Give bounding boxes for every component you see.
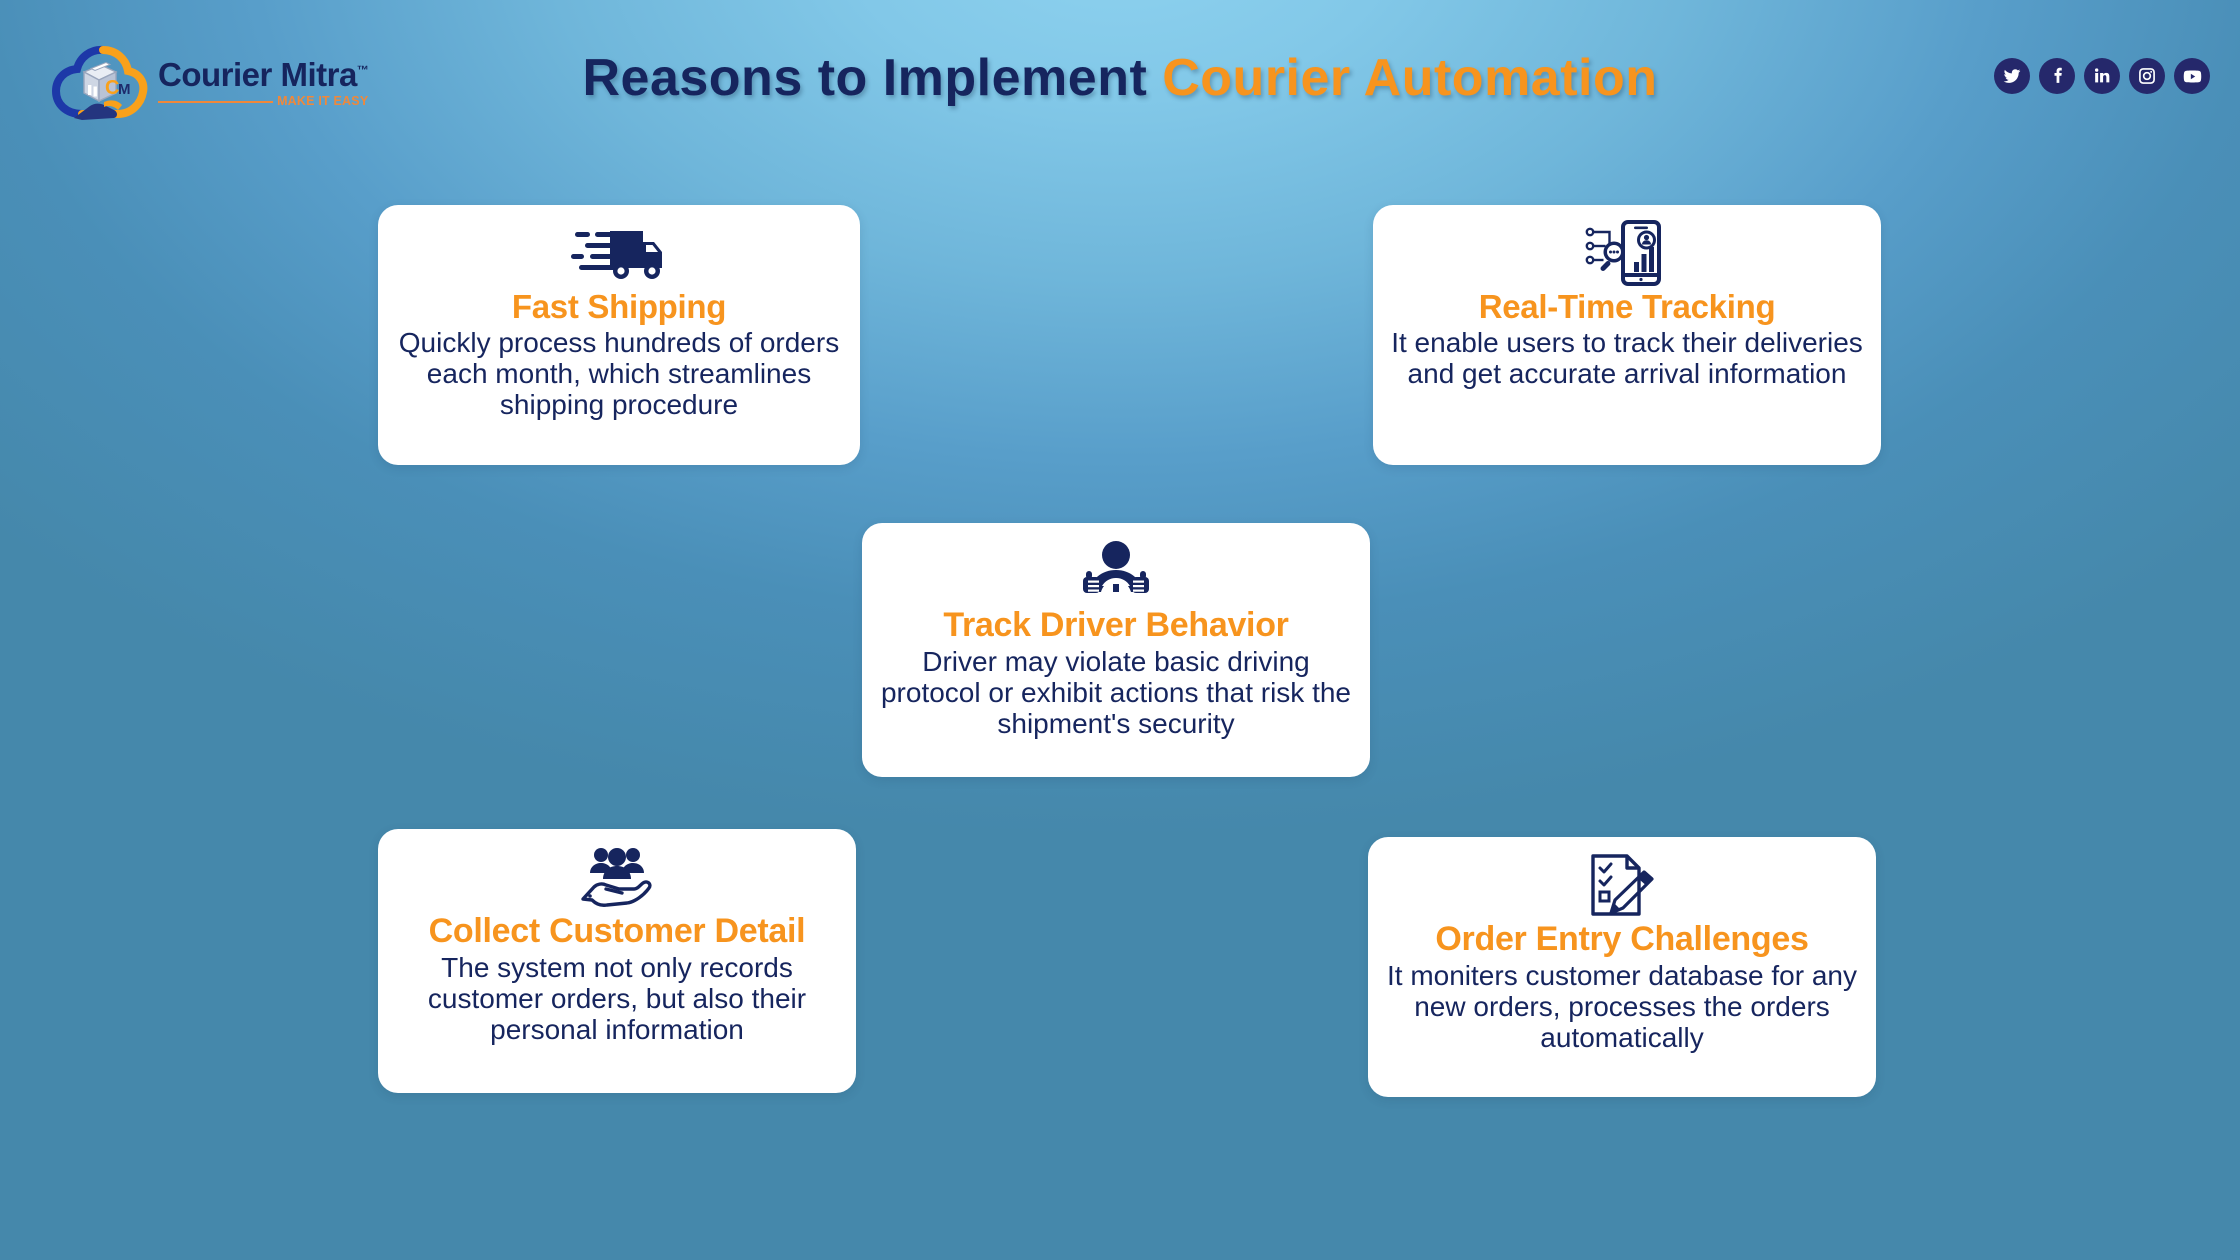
card-body: It enable users to track their deliverie… [1391, 327, 1863, 390]
card-title: Track Driver Behavior [880, 607, 1352, 644]
hand-holding-people-icon [396, 845, 838, 909]
card-fast-shipping[interactable]: Fast Shipping Quickly process hundreds o… [378, 205, 860, 465]
driver-steering-wheel-icon [880, 539, 1352, 603]
social-link-instagram[interactable] [2129, 58, 2165, 94]
twitter-icon [2002, 66, 2022, 86]
card-title: Real-Time Tracking [1391, 289, 1863, 325]
card-order-entry-challenges[interactable]: Order Entry Challenges It moniters custo… [1368, 837, 1876, 1097]
mobile-tracking-analytics-icon [1391, 221, 1863, 285]
card-track-driver-behavior[interactable]: Track Driver Behavior Driver may violate… [862, 523, 1370, 777]
youtube-icon [2182, 66, 2203, 87]
card-title: Collect Customer Detail [396, 913, 838, 950]
social-link-facebook[interactable] [2039, 58, 2075, 94]
card-body: It moniters customer database for any ne… [1386, 960, 1858, 1054]
card-real-time-tracking[interactable]: Real-Time Tracking It enable users to tr… [1373, 205, 1881, 465]
instagram-icon [2137, 66, 2157, 86]
page-title: Reasons to Implement Courier Automation [0, 48, 2240, 108]
facebook-icon [2047, 66, 2067, 86]
card-collect-customer-detail[interactable]: Collect Customer Detail The system not o… [378, 829, 856, 1093]
social-links [1994, 58, 2210, 94]
card-title: Fast Shipping [396, 289, 842, 325]
delivery-truck-icon [396, 221, 842, 285]
checklist-pencil-icon [1386, 853, 1858, 917]
card-body: Quickly process hundreds of orders each … [396, 327, 842, 421]
linkedin-icon [2092, 66, 2112, 86]
social-link-linkedin[interactable] [2084, 58, 2120, 94]
infographic-canvas: C M Courier Mitra™ MAKE IT EASY Reasons … [0, 0, 2240, 1260]
social-link-twitter[interactable] [1994, 58, 2030, 94]
card-body: The system not only records customer ord… [396, 952, 838, 1046]
social-link-youtube[interactable] [2174, 58, 2210, 94]
card-body: Driver may violate basic driving protoco… [880, 646, 1352, 740]
page-title-primary: Reasons to Implement [582, 49, 1147, 107]
page-title-accent: Courier Automation [1162, 49, 1657, 107]
header: C M Courier Mitra™ MAKE IT EASY Reasons … [0, 0, 2240, 150]
card-title: Order Entry Challenges [1386, 921, 1858, 958]
